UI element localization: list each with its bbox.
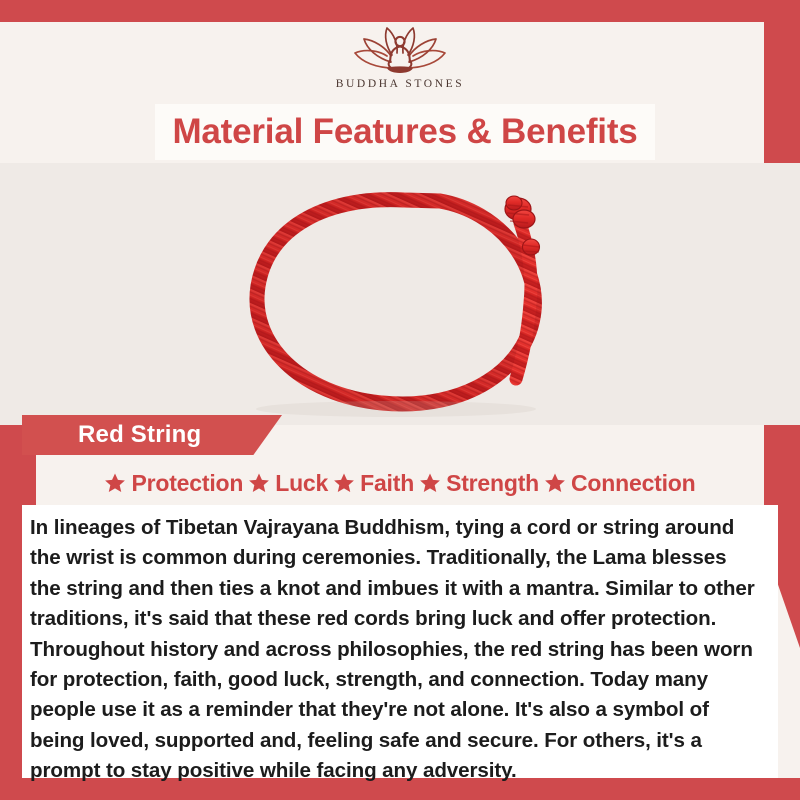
description-text: In lineages of Tibetan Vajrayana Buddhis… bbox=[30, 513, 762, 787]
feature-item-faith: Faith bbox=[333, 470, 414, 497]
star-icon bbox=[333, 472, 355, 494]
description-panel: In lineages of Tibetan Vajrayana Buddhis… bbox=[22, 505, 778, 778]
feature-item-strength: Strength bbox=[419, 470, 539, 497]
product-name-label: Red String bbox=[78, 421, 201, 449]
feature-list: Protection Luck Faith Strength Connectio bbox=[22, 462, 778, 504]
feature-label: Protection bbox=[131, 470, 243, 497]
feature-item-luck: Luck bbox=[248, 470, 328, 497]
star-icon bbox=[544, 472, 566, 494]
title-banner: Material Features & Benefits bbox=[155, 104, 655, 160]
infographic-page: BUDDHA STONES Material Features & Benefi… bbox=[0, 0, 800, 800]
product-photo bbox=[0, 163, 800, 425]
product-name-ribbon: Red String bbox=[22, 415, 282, 455]
feature-label: Faith bbox=[360, 470, 414, 497]
red-string-bracelet-illustration bbox=[0, 163, 800, 425]
star-icon bbox=[104, 472, 126, 494]
star-icon bbox=[419, 472, 441, 494]
brand-name: BUDDHA STONES bbox=[336, 78, 464, 90]
page-title: Material Features & Benefits bbox=[172, 112, 637, 152]
frame-top-bar bbox=[0, 0, 800, 22]
feature-label: Connection bbox=[571, 470, 696, 497]
brand-logo: BUDDHA STONES bbox=[0, 22, 800, 100]
feature-label: Strength bbox=[446, 470, 539, 497]
lotus-meditation-icon bbox=[334, 24, 466, 80]
feature-label: Luck bbox=[275, 470, 328, 497]
star-icon bbox=[248, 472, 270, 494]
feature-item-connection: Connection bbox=[544, 470, 696, 497]
feature-item-protection: Protection bbox=[104, 470, 243, 497]
